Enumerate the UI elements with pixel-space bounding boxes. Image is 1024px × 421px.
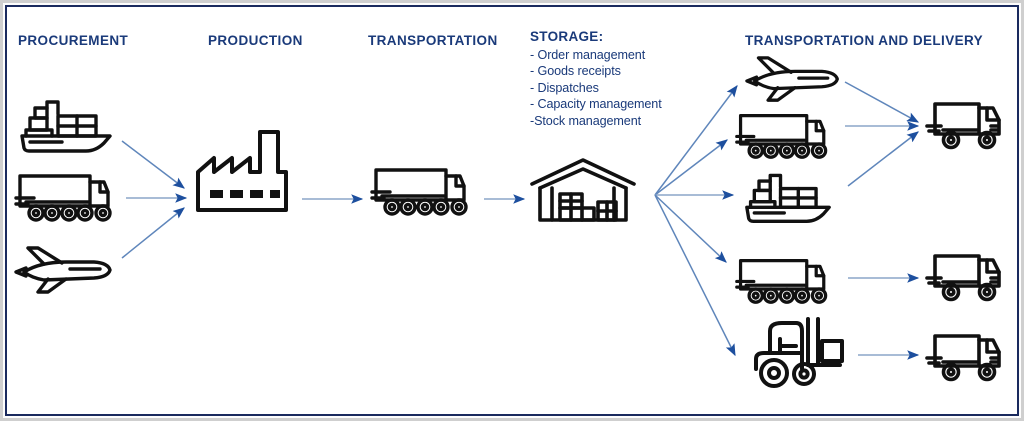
arrow-storage-to-forklift (655, 195, 735, 355)
arrow-storage-to-air (655, 86, 737, 195)
factory-icon (190, 126, 300, 214)
diagram-canvas: PROCUREMENT PRODUCTION TRANSPORTATION TR… (0, 0, 1024, 421)
airplane-icon (745, 52, 845, 108)
warehouse-icon (528, 158, 638, 224)
arrow-ship-to-factory (122, 141, 184, 188)
delivery-truck-icon (925, 330, 1009, 384)
arrow-air-to-delivery (845, 82, 918, 122)
semi-truck-icon (368, 162, 478, 220)
semi-truck-icon (733, 108, 837, 163)
arrow-storage-to-truck-2 (655, 195, 726, 262)
semi-truck-icon (12, 168, 122, 226)
arrow-plane-to-factory (122, 208, 184, 258)
airplane-icon (14, 242, 118, 300)
cargo-ship-icon (16, 94, 116, 156)
cargo-ship-icon (741, 168, 835, 226)
arrows-layer (0, 0, 1024, 421)
arrow-ship-to-delivery (848, 132, 918, 186)
delivery-truck-icon (925, 250, 1009, 304)
semi-truck-icon (733, 253, 837, 308)
forklift-icon (740, 313, 852, 393)
delivery-truck-icon (925, 98, 1009, 152)
